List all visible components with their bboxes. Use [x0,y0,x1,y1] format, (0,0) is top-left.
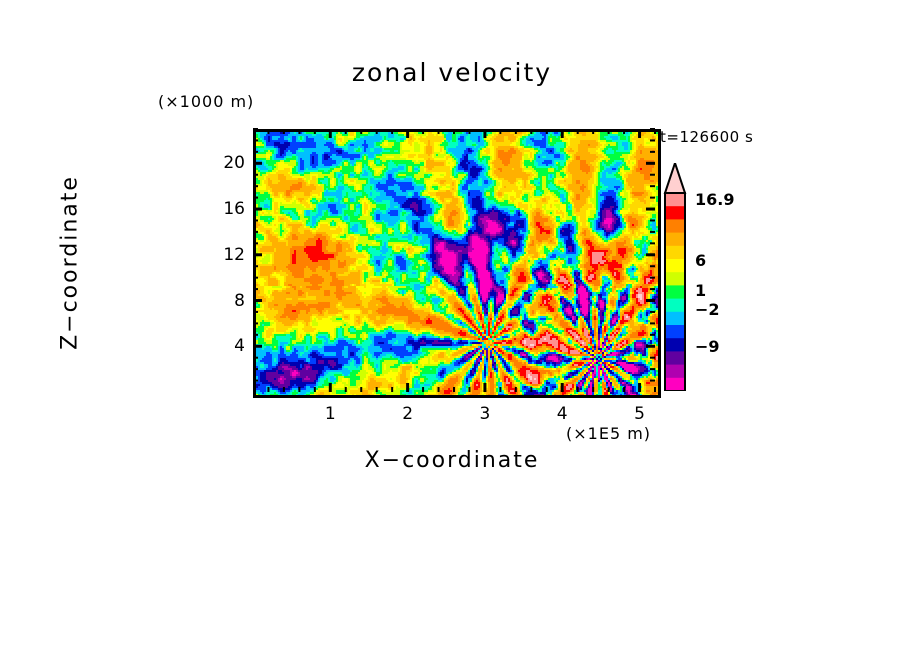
colorbar-swatches [663,163,687,391]
x-axis-unit-label: (×1E5 m) [566,424,651,443]
x-axis-title: X−coordinate [0,448,904,473]
colorbar-tick-label: −9 [695,337,720,356]
colorbar-tick-label: −2 [695,300,720,319]
colorbar-tick-label: 6 [695,251,706,270]
colorbar[interactable] [663,163,687,391]
colorbar-tick-label: 1 [695,281,706,300]
colorbar-tick-label: 16.9 [695,190,734,209]
contour-plot-figure: zonal velocity (×1000 m) t=126600 s Z−co… [0,0,904,654]
axis-tick-marks [0,0,904,654]
